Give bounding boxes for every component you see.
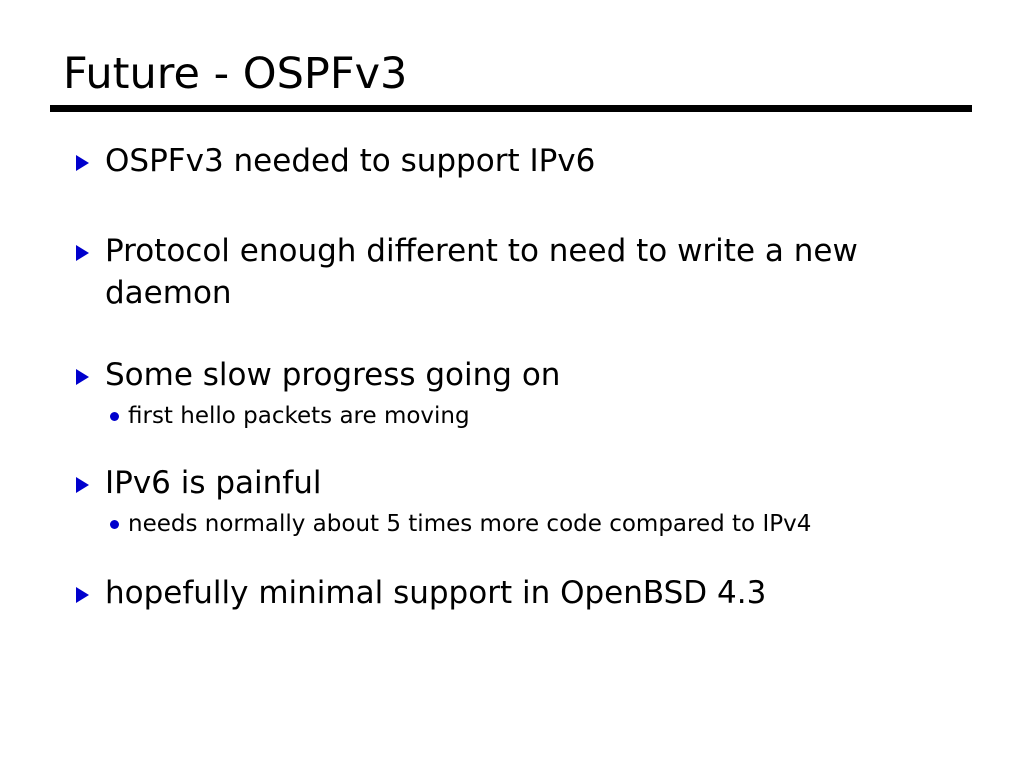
slide-title-block: Future - OSPFv3 <box>50 48 972 112</box>
list-item-label: IPv6 is painful <box>105 462 964 504</box>
blue-triangle-bullet-icon <box>76 477 89 493</box>
sub-list-item: first hello packets are moving <box>0 400 1024 432</box>
list-item: hopefully minimal support in OpenBSD 4.3 <box>0 572 1024 614</box>
bullet-group: hopefully minimal support in OpenBSD 4.3 <box>0 572 1024 614</box>
blue-triangle-bullet-icon <box>76 587 89 603</box>
spacer <box>0 432 1024 462</box>
list-item: IPv6 is painful <box>0 462 1024 504</box>
blue-triangle-bullet-icon <box>76 369 89 385</box>
bullet-group: OSPFv3 needed to support IPv6 <box>0 140 1024 182</box>
spacer <box>0 182 1024 230</box>
blue-round-bullet-icon <box>110 412 119 421</box>
list-item-label: Protocol enough different to need to wri… <box>105 230 964 314</box>
page-title: Future - OSPFv3 <box>50 48 972 100</box>
sub-list-item-label: needs normally about 5 times more code c… <box>128 511 811 537</box>
bullet-group: Protocol enough different to need to wri… <box>0 230 1024 314</box>
title-underline-rule <box>50 105 972 112</box>
spacer <box>0 540 1024 572</box>
blue-round-bullet-icon <box>110 520 119 529</box>
list-item-label: hopefully minimal support in OpenBSD 4.3 <box>105 572 964 614</box>
list-item-label: Some slow progress going on <box>105 354 964 396</box>
list-item-label: OSPFv3 needed to support IPv6 <box>105 140 964 182</box>
list-item: OSPFv3 needed to support IPv6 <box>0 140 1024 182</box>
bullet-group: Some slow progress going on first hello … <box>0 354 1024 432</box>
list-item: Some slow progress going on <box>0 354 1024 396</box>
blue-triangle-bullet-icon <box>76 245 89 261</box>
spacer <box>0 314 1024 354</box>
slide-body: OSPFv3 needed to support IPv6 Protocol e… <box>0 140 1024 614</box>
sub-list-item-label: first hello packets are moving <box>128 403 470 429</box>
bullet-group: IPv6 is painful needs normally about 5 t… <box>0 462 1024 540</box>
sub-list-item: needs normally about 5 times more code c… <box>0 508 1024 540</box>
presentation-slide: Future - OSPFv3 OSPFv3 needed to support… <box>0 0 1024 768</box>
list-item: Protocol enough different to need to wri… <box>0 230 1024 314</box>
blue-triangle-bullet-icon <box>76 155 89 171</box>
